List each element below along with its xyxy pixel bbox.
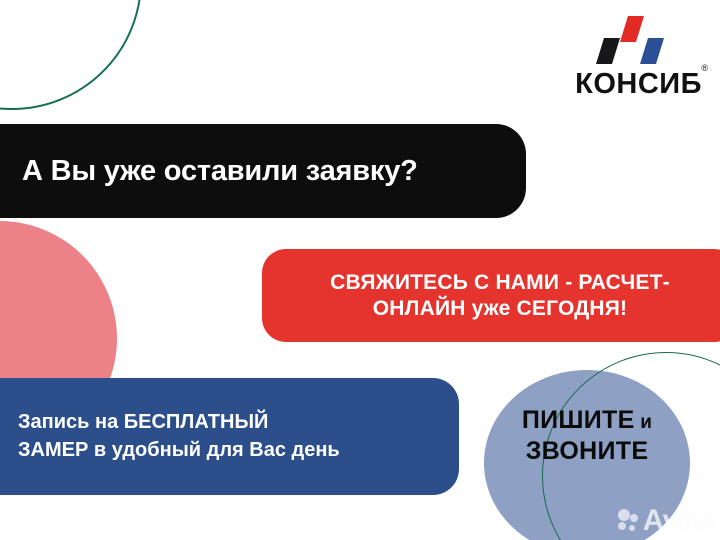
headline-block: А Вы уже оставили заявку? bbox=[0, 124, 526, 218]
avito-watermark-text: Avito bbox=[643, 506, 714, 536]
headline-text: А Вы уже оставили заявку? bbox=[0, 155, 418, 188]
green-ring-decoration-top-left bbox=[0, 0, 142, 110]
red-callout-line-2: ОНЛАЙН уже СЕГОДНЯ! bbox=[373, 296, 627, 322]
red-callout-word-segodnya: СЕГОДНЯ! bbox=[517, 297, 628, 320]
blue-callout-block: Запись на БЕСПЛАТНЫЙ ЗАМЕР в удобный для… bbox=[0, 378, 459, 495]
blue-callout-line-2: ЗАМЕР в удобный для Вас день bbox=[18, 437, 459, 465]
red-callout-word-online: ОНЛАЙН bbox=[373, 297, 466, 320]
red-callout-line-1: СВЯЖИТЕСЬ С НАМИ - РАСЧЕТ- bbox=[330, 270, 670, 296]
avito-watermark: Avito bbox=[615, 506, 714, 536]
promo-banner: КОНСИБ ® А Вы уже оставили заявку? СВЯЖИ… bbox=[0, 0, 720, 540]
blue-callout-text-zamer: ЗАМЕР bbox=[18, 439, 88, 461]
registered-trademark-symbol: ® bbox=[701, 64, 708, 73]
avito-dots-icon bbox=[615, 508, 641, 534]
logo-wordmark: КОНСИБ bbox=[575, 70, 702, 99]
red-callout-word-uzhe: уже bbox=[466, 297, 517, 320]
brand-logo: КОНСИБ ® bbox=[556, 16, 708, 102]
logo-mark-icon bbox=[590, 16, 670, 68]
blue-callout-line-1: Запись на БЕСПЛАТНЫЙ bbox=[18, 409, 459, 437]
blue-callout-text-besplatny: БЕСПЛАТНЫЙ bbox=[124, 411, 269, 433]
red-callout-block: СВЯЖИТЕСЬ С НАМИ - РАСЧЕТ- ОНЛАЙН уже СЕ… bbox=[262, 249, 720, 342]
blue-callout-text-den: в удобный для Вас день bbox=[88, 439, 339, 461]
blue-callout-text-zapis: Запись на bbox=[18, 411, 124, 433]
